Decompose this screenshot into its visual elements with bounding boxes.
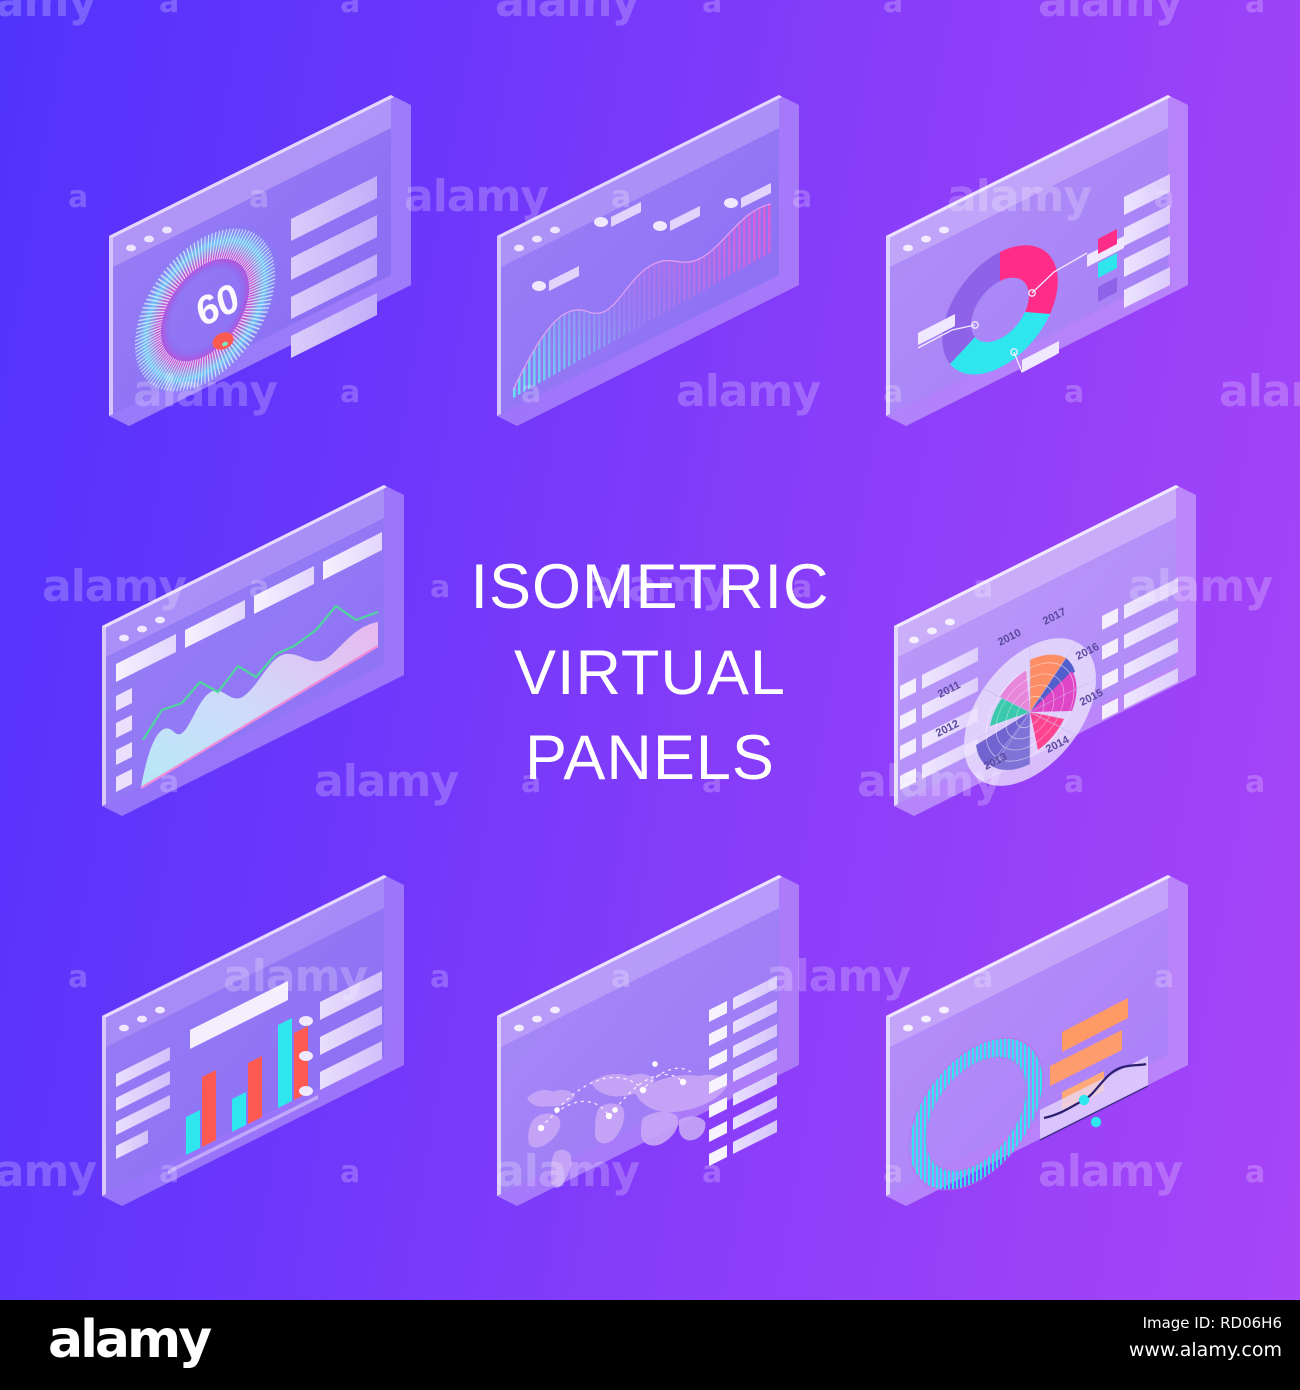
watermark-glyph: a — [68, 183, 87, 213]
watermark-glyph: a — [430, 963, 449, 993]
watermark-glyph: a — [883, 0, 902, 18]
panel-striped-wave[interactable] — [483, 80, 813, 440]
panel-bar-chart[interactable] — [88, 860, 418, 1220]
iso-window-donut — [872, 80, 1202, 440]
panel-donut-chart[interactable] — [872, 80, 1202, 440]
alamy-footer-bar: alamy Image ID: RD06H6 www.alamy.com — [0, 1300, 1300, 1390]
iso-window-gauge: 60 — [95, 80, 425, 440]
watermark-word: alamy — [1038, 0, 1182, 24]
watermark-word: alamy — [1219, 370, 1300, 414]
title-line-3: PANELS — [420, 716, 880, 802]
watermark-word: alamy — [0, 0, 96, 24]
watermark-word: alamy — [495, 0, 639, 24]
iso-window-wave — [483, 80, 813, 440]
panel-world-map[interactable] — [483, 860, 813, 1220]
iso-window-bars — [88, 860, 418, 1220]
title-line-2: VIRTUAL — [420, 631, 880, 717]
watermark-word: alamy — [0, 1150, 96, 1194]
iso-window-map — [483, 860, 813, 1220]
iso-window-area — [88, 470, 418, 830]
watermark-glyph: a — [702, 0, 721, 18]
footer-meta: Image ID: RD06H6 www.alamy.com — [1129, 1312, 1282, 1365]
image-id-text: Image ID: RD06H6 — [1129, 1312, 1282, 1335]
watermark-glyph: a — [1245, 0, 1264, 18]
watermark-glyph: a — [159, 0, 178, 18]
title-line-1: ISOMETRIC — [420, 545, 880, 631]
alamy-url-text: www.alamy.com — [1129, 1335, 1282, 1365]
window-body — [886, 875, 1188, 1206]
page-title: ISOMETRIC VIRTUAL PANELS — [420, 545, 880, 802]
panel-polar-year-chart[interactable]: 2010 2011 2012 2013 2014 2015 2016 2017 — [880, 470, 1210, 830]
panel-area-line-chart[interactable] — [88, 470, 418, 830]
isometric-artwork-canvas: 60 — [0, 0, 1300, 1300]
donut-legend-swatches[interactable] — [1098, 229, 1117, 302]
iso-window-ring — [872, 860, 1202, 1220]
iso-window-polar: 2010 2011 2012 2013 2014 2015 2016 2017 — [880, 470, 1210, 830]
alamy-logo: alamy — [48, 1314, 209, 1366]
window-body — [102, 875, 404, 1206]
watermark-glyph: a — [1245, 1158, 1264, 1188]
watermark-glyph: a — [1245, 768, 1264, 798]
watermark-glyph: a — [340, 0, 359, 18]
panel-ring-gauge[interactable] — [872, 860, 1202, 1220]
panel-radial-gauge[interactable]: 60 — [95, 80, 425, 440]
watermark-glyph: a — [68, 963, 87, 993]
screenshot-stage: 60 — [0, 0, 1300, 1390]
